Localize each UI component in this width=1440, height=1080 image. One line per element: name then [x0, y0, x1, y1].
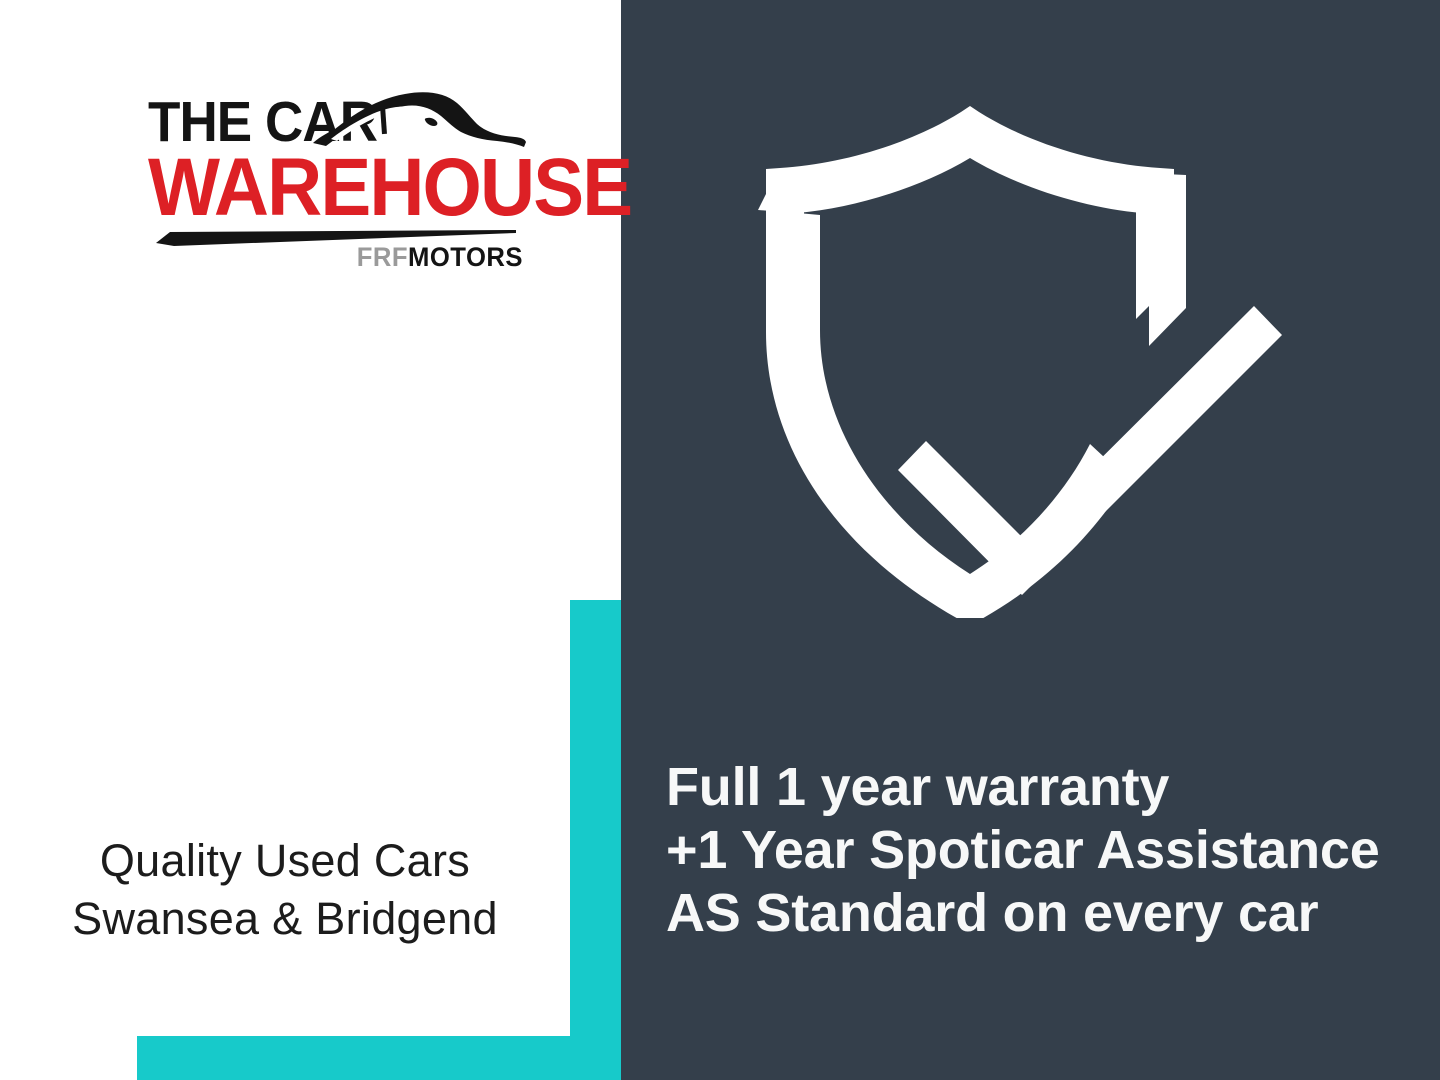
logo-frf-text: FRF [357, 242, 408, 272]
teal-horizontal-accent-bar [137, 1036, 621, 1080]
right-headline: Full 1 year warranty +1 Year Spoticar As… [666, 756, 1426, 945]
the-car-warehouse-logo: THE CAR WAREHOUSE FRFMOTORS [148, 88, 523, 280]
shield-check-icon [758, 98, 1288, 618]
tagline-line-1: Quality Used Cars [0, 832, 570, 890]
logo-sub-frf-motors: FRFMOTORS [357, 244, 523, 271]
teal-vertical-accent-bar [570, 600, 621, 1080]
logo-motors-text: MOTORS [408, 242, 523, 272]
left-tagline: Quality Used Cars Swansea & Bridgend [0, 832, 570, 948]
promo-banner: THE CAR WAREHOUSE FRFMOTORS Quality Used… [0, 0, 1440, 1080]
headline-line-2: +1 Year Spoticar Assistance [666, 819, 1426, 882]
logo-line-warehouse: WAREHOUSE [148, 147, 631, 229]
headline-line-1: Full 1 year warranty [666, 756, 1426, 819]
tagline-line-2: Swansea & Bridgend [0, 890, 570, 948]
shield-check-icon-svg [758, 98, 1288, 618]
headline-line-3: AS Standard on every car [666, 882, 1426, 945]
